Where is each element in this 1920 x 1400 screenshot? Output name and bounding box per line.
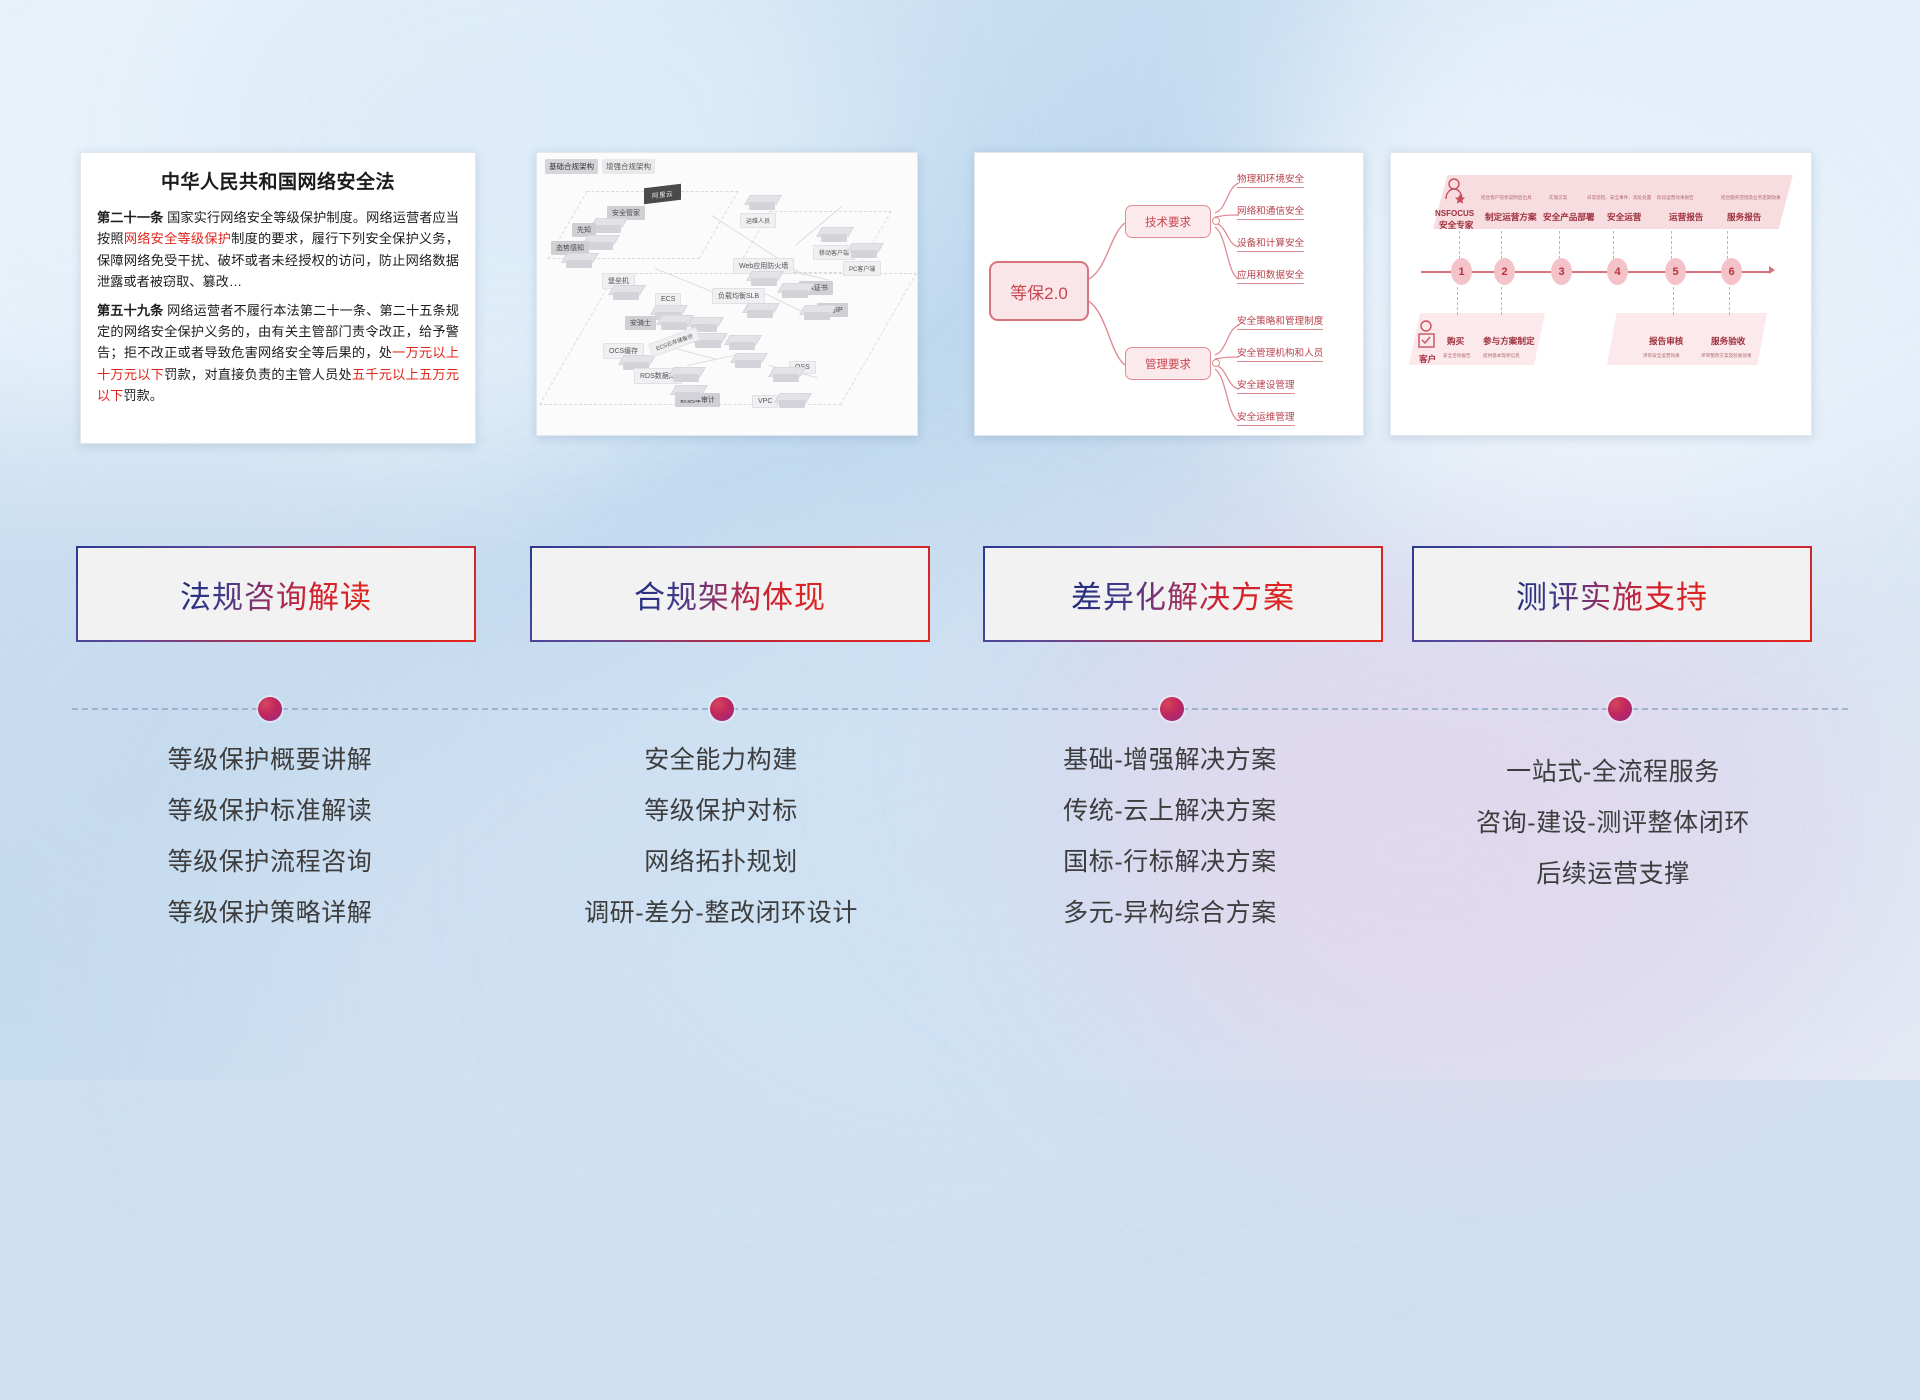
list-item: 等级保护对标: [486, 799, 956, 824]
roadmap-node-2[interactable]: 2: [1494, 258, 1515, 285]
list-item: 基础-增强解决方案: [935, 748, 1405, 773]
roadmap-customer-label: 客户: [1419, 353, 1436, 365]
section-title-box-4[interactable]: 测评实施支持: [1414, 548, 1810, 640]
law-article-59: 第五十九条 网络运营者不履行本法第二十一条、第二十五条规定的网络安全保护义务的，…: [97, 300, 459, 407]
mindmap-branch-technical: 技术要求: [1125, 205, 1211, 238]
customer-person-icon: [1415, 319, 1439, 353]
arch-node-15: 运维人员: [740, 213, 776, 228]
arch-cube-icon: [745, 301, 775, 319]
roadmap-bottom-label: 参与方案制定: [1483, 335, 1535, 347]
roadmap-connector: [1501, 231, 1503, 259]
roadmap-expert-role: 安全专家: [1439, 219, 1473, 231]
section-title-4: 测评实施支持: [1516, 572, 1708, 617]
roadmap-bottom-label: 购买: [1447, 335, 1464, 347]
roadmap-bottom-sub: 评审安全运营效果: [1643, 353, 1680, 359]
timeline-dot-3[interactable]: [1160, 697, 1184, 721]
list-item: 调研-差分-整改闭环设计: [486, 901, 956, 926]
roadmap-connector: [1727, 231, 1729, 259]
section-title-1: 法规咨询解读: [180, 572, 372, 617]
mindmap-leaf: 安全策略和管理制度: [1237, 313, 1323, 330]
card-row: 中华人民共和国网络安全法 第二十一条 国家实行网络安全等级保护制度。网络运营者应…: [0, 152, 1920, 452]
roadmap-step-label: 安全运营: [1607, 211, 1641, 223]
section-title-box-3[interactable]: 差异化解决方案: [985, 548, 1381, 640]
roadmap-step-label: 制定运营方案: [1485, 211, 1537, 223]
arch-cube-icon: [585, 233, 615, 251]
list-item: 等级保护概要讲解: [35, 748, 505, 773]
roadmap-connector: [1671, 231, 1673, 259]
roadmap-bottom-sub: 评审整改方案及验收效果: [1701, 353, 1752, 359]
law-article-21: 第二十一条 国家实行网络安全等级保护制度。网络运营者应当按照网络安全等级保护制度…: [97, 207, 459, 293]
card-mindmap: 等保2.0 技术要求 物理和环境安全 网络和通信安全 设备和计算安全 应用和数据…: [974, 152, 1364, 436]
roadmap-expert-name: NSFOCUS: [1435, 209, 1474, 218]
roadmap-node-4[interactable]: 4: [1607, 258, 1628, 285]
mindmap-leaf: 安全运维管理: [1237, 409, 1295, 426]
arch-cube-icon: [673, 383, 703, 401]
roadmap-node-5[interactable]: 5: [1665, 258, 1686, 285]
arch-cube-icon: [780, 281, 810, 299]
list-item: 网络拓扑规划: [486, 850, 956, 875]
roadmap-axis: [1421, 271, 1771, 273]
list-item: 后续运营支撑: [1378, 862, 1848, 887]
roadmap-step-label: 服务报告: [1727, 211, 1761, 223]
roadmap-step-sub: 日常巡检、安全事件、高危处置: [1587, 195, 1651, 201]
roadmap-step-sub: 实施方案: [1549, 195, 1567, 201]
list-item: 等级保护流程咨询: [35, 850, 505, 875]
roadmap-step-sub: 结合服务范围及业务定期效果: [1721, 195, 1781, 201]
mindmap-leaf: 安全管理机构和人员: [1237, 345, 1323, 362]
roadmap-node-1[interactable]: 1: [1451, 258, 1472, 285]
mindmap-canvas: 等保2.0 技术要求 物理和环境安全 网络和通信安全 设备和计算安全 应用和数据…: [975, 153, 1363, 435]
card-architecture-diagram: 基础合规架构 增强合规架构 阿里云 安全管家 先知 态势: [536, 152, 918, 436]
list-item: 传统-云上解决方案: [935, 799, 1405, 824]
timeline-dot-4[interactable]: [1608, 697, 1632, 721]
mindmap-leaf: 应用和数据安全: [1237, 267, 1304, 284]
section-items-4: 一站式-全流程服务 咨询-建设-测评整体闭环 后续运营支撑: [1378, 760, 1848, 913]
list-item: 国标-行标解决方案: [935, 850, 1405, 875]
law-title: 中华人民共和国网络安全法: [97, 167, 459, 194]
section-title-row: 法规咨询解读 合规架构体现 差异化解决方案 测评实施支持: [0, 548, 1920, 648]
list-item: 咨询-建设-测评整体闭环: [1378, 811, 1848, 836]
roadmap-connector: [1501, 287, 1503, 315]
roadmap-node-6[interactable]: 6: [1721, 258, 1742, 285]
section-items-row: 等级保护概要讲解 等级保护标准解读 等级保护流程咨询 等级保护策略详解 安全能力…: [0, 748, 1920, 998]
roadmap-step-label: 安全产品部署: [1543, 211, 1595, 223]
roadmap-arrow-icon: [1769, 266, 1775, 274]
roadmap-connector: [1459, 231, 1461, 259]
roadmap-bottom-sub: 提供基本现状信息: [1483, 353, 1520, 359]
timeline-dot-1[interactable]: [258, 697, 282, 721]
section-items-2: 安全能力构建 等级保护对标 网络拓扑规划 调研-差分-整改闭环设计: [486, 748, 956, 952]
list-item: 安全能力构建: [486, 748, 956, 773]
mindmap-leaf: 安全建设管理: [1237, 377, 1295, 394]
list-item: 一站式-全流程服务: [1378, 760, 1848, 785]
card-roadmap: NSFOCUS 安全专家 结合客户现状说明后出具 制定运营方案 实施方案 安全产…: [1390, 152, 1812, 436]
roadmap-step-sub: 结合客户现状说明后出具: [1481, 195, 1532, 201]
mindmap-branch-management: 管理要求: [1125, 347, 1211, 380]
architecture-canvas: 基础合规架构 增强合规架构 阿里云 安全管家 先知 态势: [537, 153, 917, 435]
arch-node-17: PC客户端: [843, 261, 881, 276]
arch-cube-icon: [671, 365, 701, 383]
list-item: 多元-异构综合方案: [935, 901, 1405, 926]
arch-cube-icon: [747, 193, 777, 211]
list-item: 等级保护标准解读: [35, 799, 505, 824]
section-items-1: 等级保护概要讲解 等级保护标准解读 等级保护流程咨询 等级保护策略详解: [35, 748, 505, 952]
timeline: [0, 697, 1920, 721]
arch-cube-icon: [777, 391, 807, 409]
mindmap-collapse-icon[interactable]: [1212, 359, 1220, 367]
section-title-box-1[interactable]: 法规咨询解读: [78, 548, 474, 640]
arch-tab-enhanced[interactable]: 增强合规架构: [602, 159, 655, 174]
mindmap-root: 等保2.0: [989, 261, 1089, 321]
architecture-tabs: 基础合规架构 增强合规架构: [545, 159, 655, 174]
arch-cube-icon: [611, 283, 641, 301]
roadmap-connector: [1457, 287, 1459, 315]
roadmap-bottom-label: 服务验收: [1711, 335, 1745, 347]
section-items-3: 基础-增强解决方案 传统-云上解决方案 国标-行标解决方案 多元-异构综合方案: [935, 748, 1405, 952]
arch-tab-basic[interactable]: 基础合规架构: [545, 159, 598, 174]
law-document: 中华人民共和国网络安全法 第二十一条 国家实行网络安全等级保护制度。网络运营者应…: [81, 153, 475, 443]
arch-cube-icon: [849, 241, 879, 259]
arch-cube-icon: [727, 333, 757, 351]
arch-cube-icon: [733, 351, 763, 369]
arch-node-5: 安骑士: [625, 316, 656, 330]
arch-cube-icon: [593, 216, 623, 234]
arch-cube-icon: [819, 225, 849, 243]
arch-cube-icon: [564, 251, 594, 269]
timeline-dot-2[interactable]: [710, 697, 734, 721]
section-title-box-2[interactable]: 合规架构体现: [532, 548, 928, 640]
section-title-3: 差异化解决方案: [1071, 572, 1295, 617]
roadmap-canvas: NSFOCUS 安全专家 结合客户现状说明后出具 制定运营方案 实施方案 安全产…: [1391, 153, 1811, 435]
arch-cube-icon: [659, 313, 689, 331]
timeline-line: [72, 708, 1848, 710]
section-title-2: 合规架构体现: [634, 572, 826, 617]
roadmap-node-3[interactable]: 3: [1551, 258, 1572, 285]
roadmap-bottom-sub: 安全咨询报告: [1443, 353, 1471, 359]
mindmap-leaf: 设备和计算安全: [1237, 235, 1304, 252]
card-law-text: 中华人民共和国网络安全法 第二十一条 国家实行网络安全等级保护制度。网络运营者应…: [80, 152, 476, 444]
mindmap-leaf: 物理和环境安全: [1237, 171, 1304, 188]
roadmap-connector: [1559, 231, 1561, 259]
arch-cube-icon: [749, 269, 779, 287]
mindmap-leaf: 网络和通信安全: [1237, 203, 1304, 220]
arch-cube-icon: [771, 365, 801, 383]
arch-cube-icon: [802, 303, 832, 321]
mindmap-collapse-icon[interactable]: [1212, 217, 1220, 225]
roadmap-connector: [1729, 287, 1731, 315]
roadmap-connector: [1613, 231, 1615, 259]
roadmap-step-label: 运营报告: [1669, 211, 1703, 223]
roadmap-step-sub: 阶段运营效果报告: [1657, 195, 1694, 201]
list-item: 等级保护策略详解: [35, 901, 505, 926]
roadmap-connector: [1673, 287, 1675, 315]
roadmap-bottom-label: 报告审核: [1649, 335, 1683, 347]
